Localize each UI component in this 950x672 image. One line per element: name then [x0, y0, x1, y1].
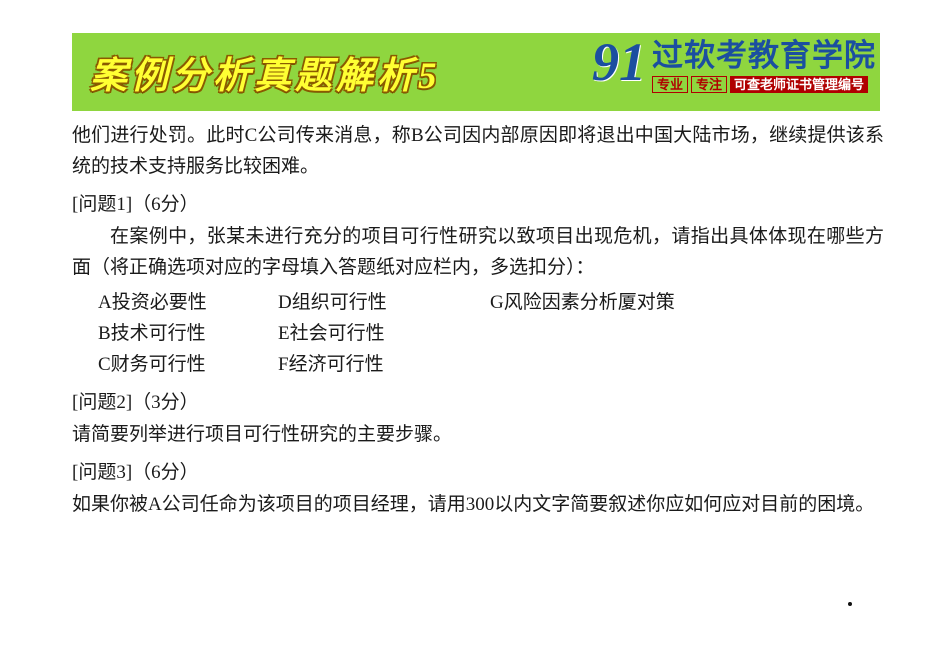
logo-slogan-row: 专业 专注 可查老师证书管理编号: [652, 76, 876, 93]
logo-slogan: 可查老师证书管理编号: [730, 76, 868, 93]
logo-badge-2: 专注: [691, 76, 727, 93]
question-1-heading: [问题1]（6分）: [72, 188, 884, 221]
option-item: F经济可行性: [252, 349, 432, 380]
option-item: A投资必要性: [72, 287, 252, 318]
option-item: E社会可行性: [252, 318, 432, 349]
logo-number: 91: [592, 37, 652, 87]
question-3-text: 如果你被A公司任命为该项目的项目经理，请用300以内文字简要叙述你应如何应对目前…: [72, 489, 884, 520]
option-item: B技术可行性: [72, 318, 252, 349]
document-content: 他们进行处罚。此时C公司传来消息，称B公司因内部原因即将退出中国大陆市场，继续提…: [72, 120, 884, 524]
question-2-heading: [问题2]（3分）: [72, 386, 884, 419]
question-3-heading: [问题3]（6分）: [72, 456, 884, 489]
option-row: C财务可行性 F经济可行性: [72, 349, 884, 380]
option-row: B技术可行性 E社会可行性: [72, 318, 884, 349]
banner-title: 案例分析真题解析5: [90, 45, 441, 99]
option-item: [432, 318, 752, 349]
option-item: [432, 349, 752, 380]
question-1-text: 在案例中，张某未进行充分的项目可行性研究以致项目出现危机，请指出具体体现在哪些方…: [72, 221, 884, 283]
option-row: A投资必要性 D组织可行性 G风险因素分析厦对策: [72, 287, 884, 318]
question-1-options: A投资必要性 D组织可行性 G风险因素分析厦对策 B技术可行性 E社会可行性 C…: [72, 287, 884, 380]
option-item: C财务可行性: [72, 349, 252, 380]
brand-logo: 91 过软考教育学院 专业 专注 可查老师证书管理编号: [592, 37, 876, 107]
option-item: D组织可行性: [252, 287, 432, 318]
option-item: G风险因素分析厦对策: [432, 287, 752, 318]
header-banner: 案例分析真题解析5 91 过软考教育学院 专业 专注 可查老师证书管理编号: [72, 33, 880, 111]
logo-name: 过软考教育学院: [652, 39, 876, 73]
page-dot-mark: [848, 602, 852, 606]
logo-text-group: 过软考教育学院 专业 专注 可查老师证书管理编号: [652, 37, 876, 93]
intro-paragraph: 他们进行处罚。此时C公司传来消息，称B公司因内部原因即将退出中国大陆市场，继续提…: [72, 120, 884, 182]
question-2-text: 请简要列举进行项目可行性研究的主要步骤。: [72, 419, 884, 450]
logo-badge-1: 专业: [652, 76, 688, 93]
